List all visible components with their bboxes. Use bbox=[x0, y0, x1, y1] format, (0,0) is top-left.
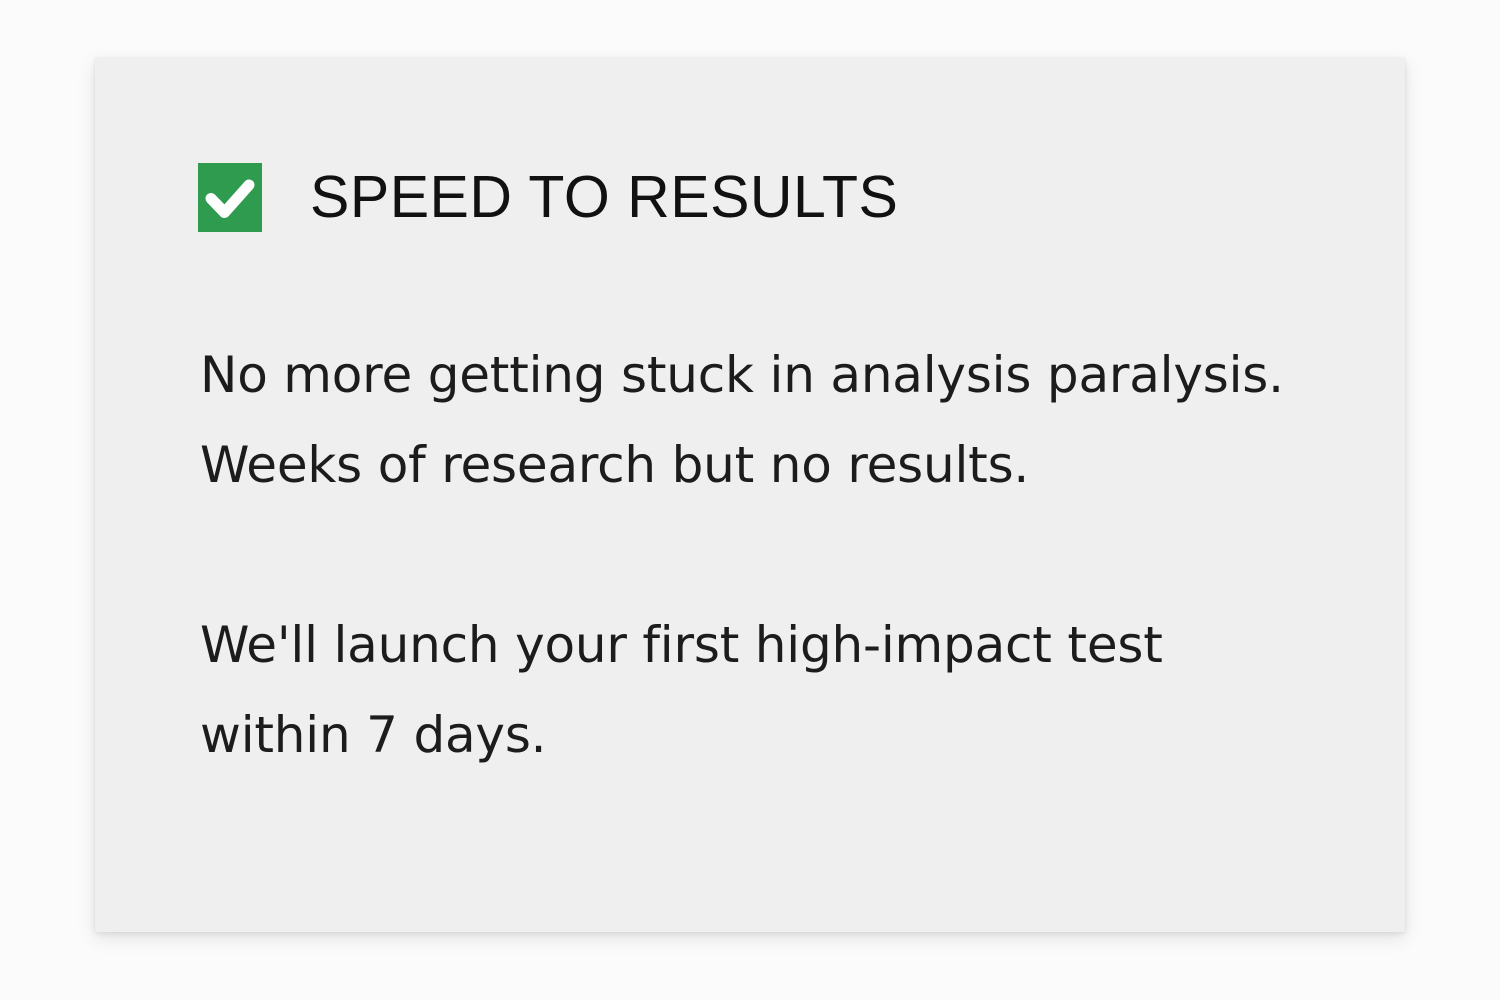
check-square-icon bbox=[198, 163, 262, 232]
page-root: SPEED TO RESULTS No more getting stuck i… bbox=[0, 0, 1500, 1000]
body-paragraph-2: We'll launch your first high-impact test… bbox=[200, 600, 1290, 780]
paragraph-spacer bbox=[200, 510, 1290, 600]
card-header: SPEED TO RESULTS bbox=[198, 163, 898, 232]
card-title: SPEED TO RESULTS bbox=[310, 163, 898, 232]
card-body: No more getting stuck in analysis paraly… bbox=[200, 330, 1290, 780]
body-paragraph-1: No more getting stuck in analysis paraly… bbox=[200, 330, 1290, 510]
benefit-card: SPEED TO RESULTS No more getting stuck i… bbox=[95, 58, 1405, 932]
